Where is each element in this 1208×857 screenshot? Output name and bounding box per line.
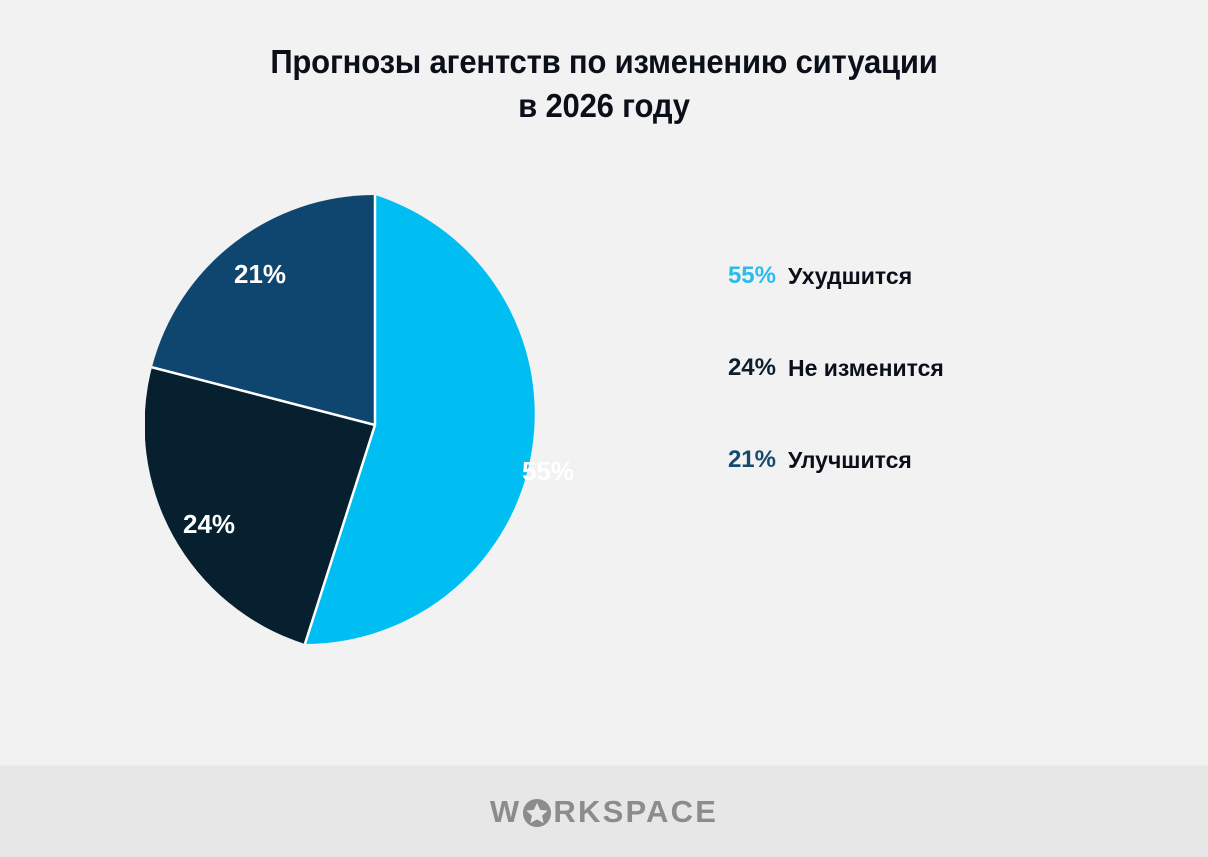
watermark-text-start: W (490, 796, 521, 827)
legend-label-unchanged: Не изменится (788, 352, 944, 384)
pie-chart-svg: 55% 24% 21% (145, 195, 605, 655)
legend: 55% Ухудшится 24% Не изменится 21% Улучш… (704, 248, 1104, 524)
pie-slice-label-improve: 21% (234, 259, 286, 289)
legend-percent-improve: 21% (704, 444, 776, 476)
watermark-logo: W RKSPACE (0, 766, 1208, 857)
legend-label-improve: Улучшится (788, 444, 912, 476)
legend-percent-worsen: 55% (704, 260, 776, 292)
footer-bar: W RKSPACE (0, 765, 1208, 857)
pie-slice-label-worsen: 55% (522, 456, 574, 486)
legend-label-worsen: Ухудшится (788, 260, 912, 292)
legend-percent-unchanged: 24% (704, 352, 776, 384)
watermark-text-end: RKSPACE (553, 796, 718, 827)
page-title: Прогнозы агентств по изменению ситуации … (36, 40, 1172, 128)
legend-item-worsen[interactable]: 55% Ухудшится (704, 248, 1104, 340)
pie-slice-label-unchanged: 24% (183, 509, 235, 539)
star-in-circle-icon (522, 798, 552, 828)
legend-item-unchanged[interactable]: 24% Не изменится (704, 340, 1104, 432)
legend-item-improve[interactable]: 21% Улучшится (704, 432, 1104, 524)
pie-chart: 55% 24% 21% (145, 195, 605, 655)
chart-canvas: Прогнозы агентств по изменению ситуации … (0, 0, 1208, 856)
